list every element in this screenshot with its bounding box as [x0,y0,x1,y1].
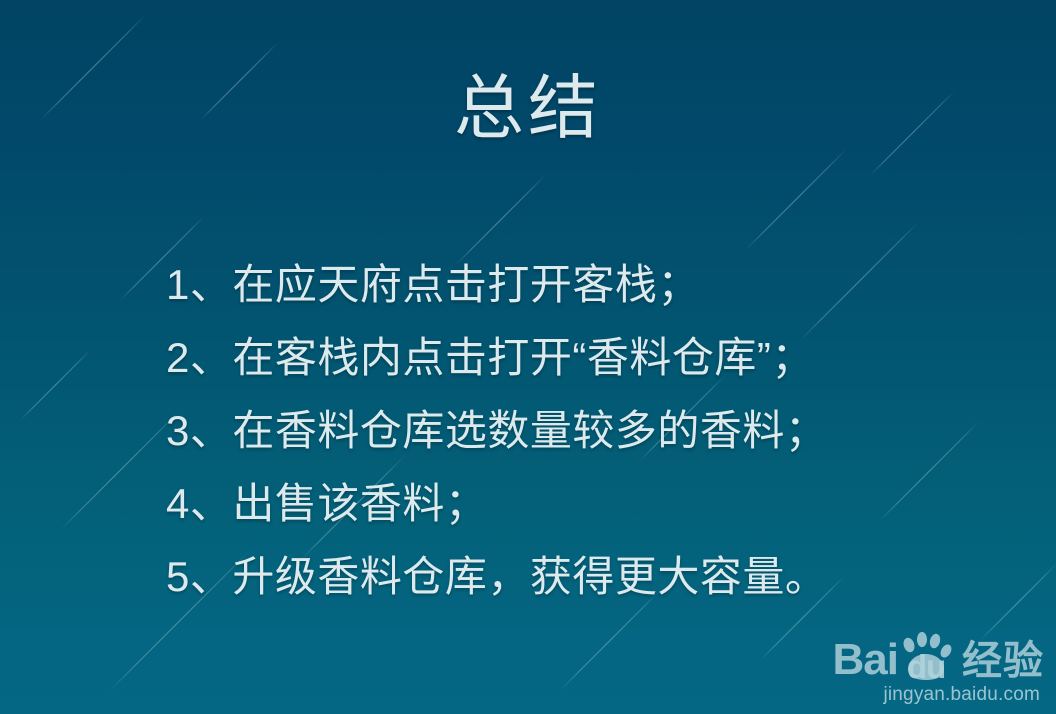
summary-step-list: 1、在应天府点击打开客栈； 2、在客栈内点击打开“香料仓库”； 3、在香料仓库选… [166,248,996,613]
list-item: 5、升级香料仓库，获得更大容量。 [166,540,996,613]
baidu-wordmark-latin: Bai [833,638,898,682]
baidu-jingyan-watermark: Bai du 经验 jingyan.baidu.com [833,632,1044,706]
diagonal-streak [20,349,91,420]
baidu-logo: Bai du 经验 [833,632,1044,682]
page-title: 总结 [454,72,602,146]
list-item: 1、在应天府点击打开客栈； [166,248,996,321]
presentation-slide: 总结 1、在应天府点击打开客栈； 2、在客栈内点击打开“香料仓库”； 3、在香料… [0,0,1056,714]
list-item: 4、出售该香料； [166,467,996,540]
diagonal-streak [745,148,848,251]
list-item: 2、在客栈内点击打开“香料仓库”； [166,321,996,394]
diagonal-streak [60,410,181,531]
slide-title-container: 总结 [0,72,1056,146]
paw-print-icon: du [896,632,956,682]
jingyan-wordmark-cn: 经验 [962,640,1044,682]
watermark-url: jingyan.baidu.com [833,684,1040,706]
list-item: 3、在香料仓库选数量较多的香料； [166,394,996,467]
baidu-wordmark-du: du [907,650,945,683]
